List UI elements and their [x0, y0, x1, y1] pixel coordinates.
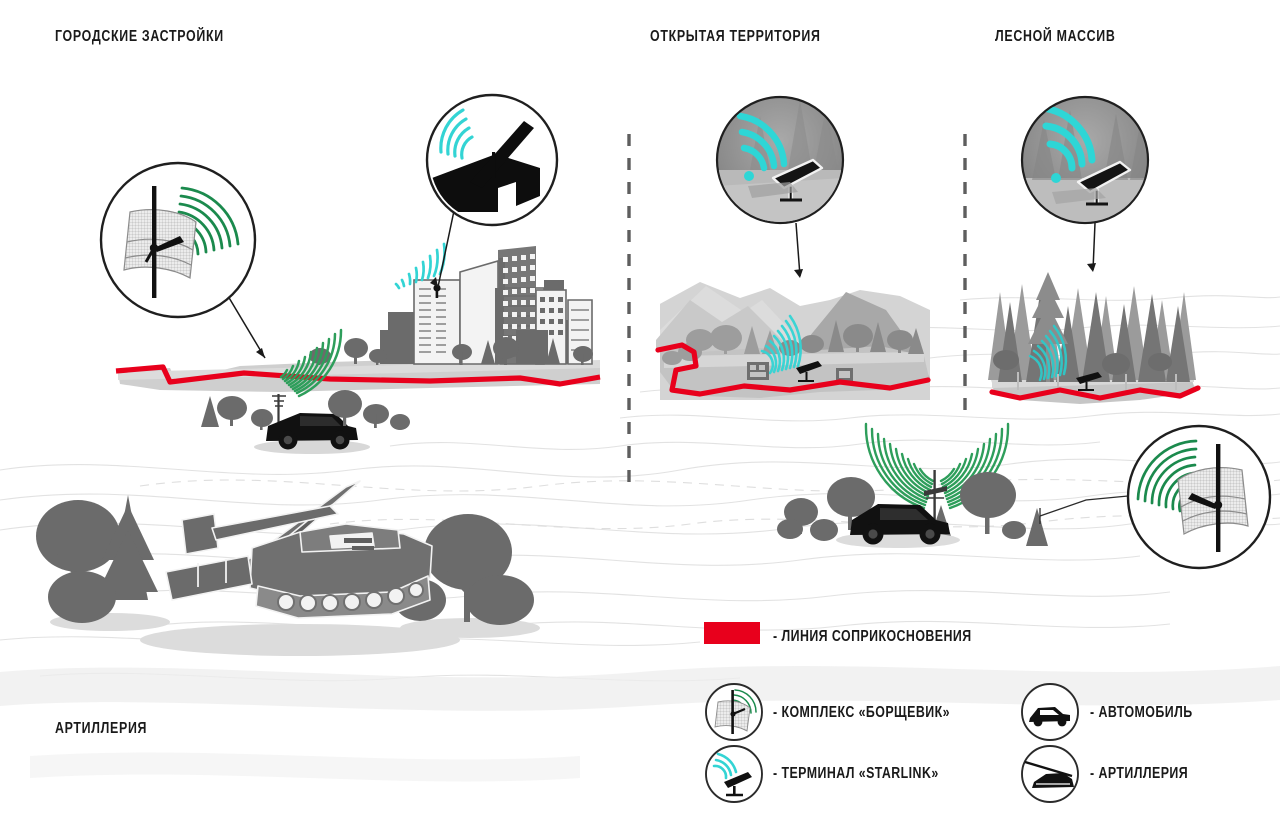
infographic-canvas: ГОРОДСКИЕ ЗАСТРОЙКИ ОТКРЫТАЯ ТЕРРИТОРИЯ …	[0, 0, 1280, 832]
scene-field	[777, 424, 1128, 548]
legend-artillery-icon	[1022, 746, 1078, 802]
callout-forest-borschevik	[1128, 426, 1270, 568]
legend-text-contact-line: ЛИНИЯ СОПРИКОСНОВЕНИЯ	[781, 628, 971, 645]
callout-open-starlink	[717, 97, 843, 223]
label-artillery-scene: АРТИЛЛЕРИЯ	[55, 720, 147, 738]
legend-dash-contact-line: -	[773, 628, 778, 645]
legend-car-icon	[1022, 684, 1078, 740]
legend-dash-borschevik: -	[773, 704, 778, 721]
legend-text-artillery: АРТИЛЛЕРИЯ	[1098, 765, 1188, 782]
legend-dash-vehicle: -	[1090, 704, 1095, 721]
legend-label-starlink: - ТЕРМИНАЛ «STARLINK»	[773, 765, 939, 783]
legend-red-bar-swatch	[704, 622, 760, 644]
legend-label-artillery: - АРТИЛЛЕРИЯ	[1090, 765, 1188, 783]
illustration-layer	[0, 0, 1280, 832]
header-urban: ГОРОДСКИЕ ЗАСТРОЙКИ	[55, 28, 224, 46]
legend-borschevik-icon	[706, 684, 762, 740]
leader-forest-starlink	[1093, 223, 1095, 270]
city-skyline	[380, 246, 592, 364]
legend-label-borschevik: - КОМПЛЕКС «БОРЩЕВИК»	[773, 704, 950, 722]
callout-urban-borschevik	[101, 163, 255, 317]
header-open: ОТКРЫТАЯ ТЕРРИТОРИЯ	[650, 28, 821, 46]
header-forest: ЛЕСНОЙ МАССИВ	[995, 28, 1116, 46]
legend-text-starlink: ТЕРМИНАЛ «STARLINK»	[781, 765, 938, 782]
scene-open	[656, 282, 930, 400]
conifer-forest	[988, 272, 1196, 382]
scene-forest	[988, 272, 1198, 404]
legend-starlink-icon	[706, 746, 762, 802]
leader-urban-starlink	[438, 206, 455, 287]
field-green-fan-left	[866, 424, 933, 508]
leader-urban-borschevik	[225, 291, 265, 358]
legend-dash-artillery: -	[1090, 765, 1095, 782]
scene-artillery	[36, 481, 540, 656]
ground-washes	[0, 666, 1280, 781]
legend-text-borschevik: КОМПЛЕКС «БОРЩЕВИК»	[781, 704, 949, 721]
legend-label-contact-line: - ЛИНИЯ СОПРИКОСНОВЕНИЯ	[773, 628, 972, 646]
legend-text-vehicle: АВТОМОБИЛЬ	[1098, 704, 1192, 721]
field-callout-connector	[1040, 496, 1128, 516]
legend-dash-starlink: -	[773, 765, 778, 782]
callout-forest-starlink	[1022, 97, 1150, 223]
legend-label-vehicle: - АВТОМОБИЛЬ	[1090, 704, 1193, 722]
artillery-left-trees	[36, 495, 158, 623]
self-propelled-gun	[166, 481, 432, 618]
leader-open-starlink	[796, 223, 800, 276]
callout-urban-starlink	[427, 95, 557, 225]
